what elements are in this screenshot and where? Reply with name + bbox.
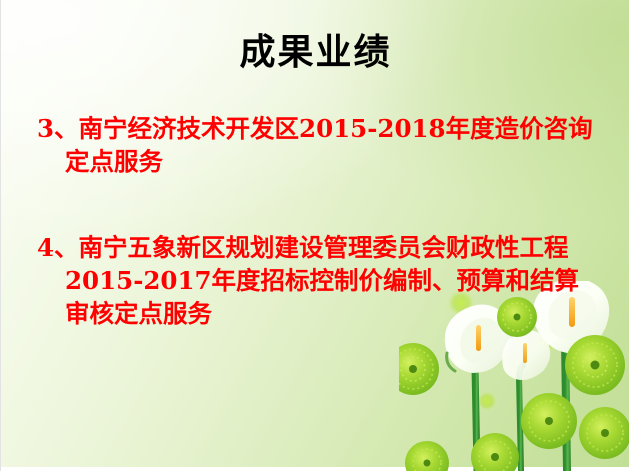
achievement-list-item-4: 4、南宁五象新区规划建设管理委员会财政性工程2015-2017年度招标控制价编制… xyxy=(37,231,602,330)
achievement-item-text: 4、南宁五象新区规划建设管理委员会财政性工程2015-2017年度招标控制价编制… xyxy=(37,231,602,330)
achievement-list-item-3: 3、南宁经济技术开发区2015-2018年度造价咨询定点服务 xyxy=(37,112,602,178)
green-chrysanthemum-icon xyxy=(565,335,625,395)
lily-stem xyxy=(475,357,479,471)
lily-stem xyxy=(565,325,571,471)
presentation-slide: 成果业绩 3、南宁经济技术开发区2015-2018年度造价咨询定点服务 4、南宁… xyxy=(0,0,629,471)
bokeh-circle-icon xyxy=(476,390,498,412)
bottom-edge-strip xyxy=(1,467,629,471)
green-chrysanthemum-icon xyxy=(399,343,439,395)
calla-lily-icon xyxy=(502,330,550,380)
green-chrysanthemum-icon xyxy=(521,393,577,449)
green-chrysanthemum-icon xyxy=(579,407,629,459)
green-chrysanthemum-icon xyxy=(405,441,449,471)
lily-spadix xyxy=(523,343,527,363)
green-chrysanthemum-icon xyxy=(471,433,519,471)
lily-stem xyxy=(519,365,523,471)
slide-title: 成果业绩 xyxy=(1,33,629,73)
achievement-item-text: 3、南宁经济技术开发区2015-2018年度造价咨询定点服务 xyxy=(37,112,602,178)
bokeh-circle-icon xyxy=(535,329,559,353)
